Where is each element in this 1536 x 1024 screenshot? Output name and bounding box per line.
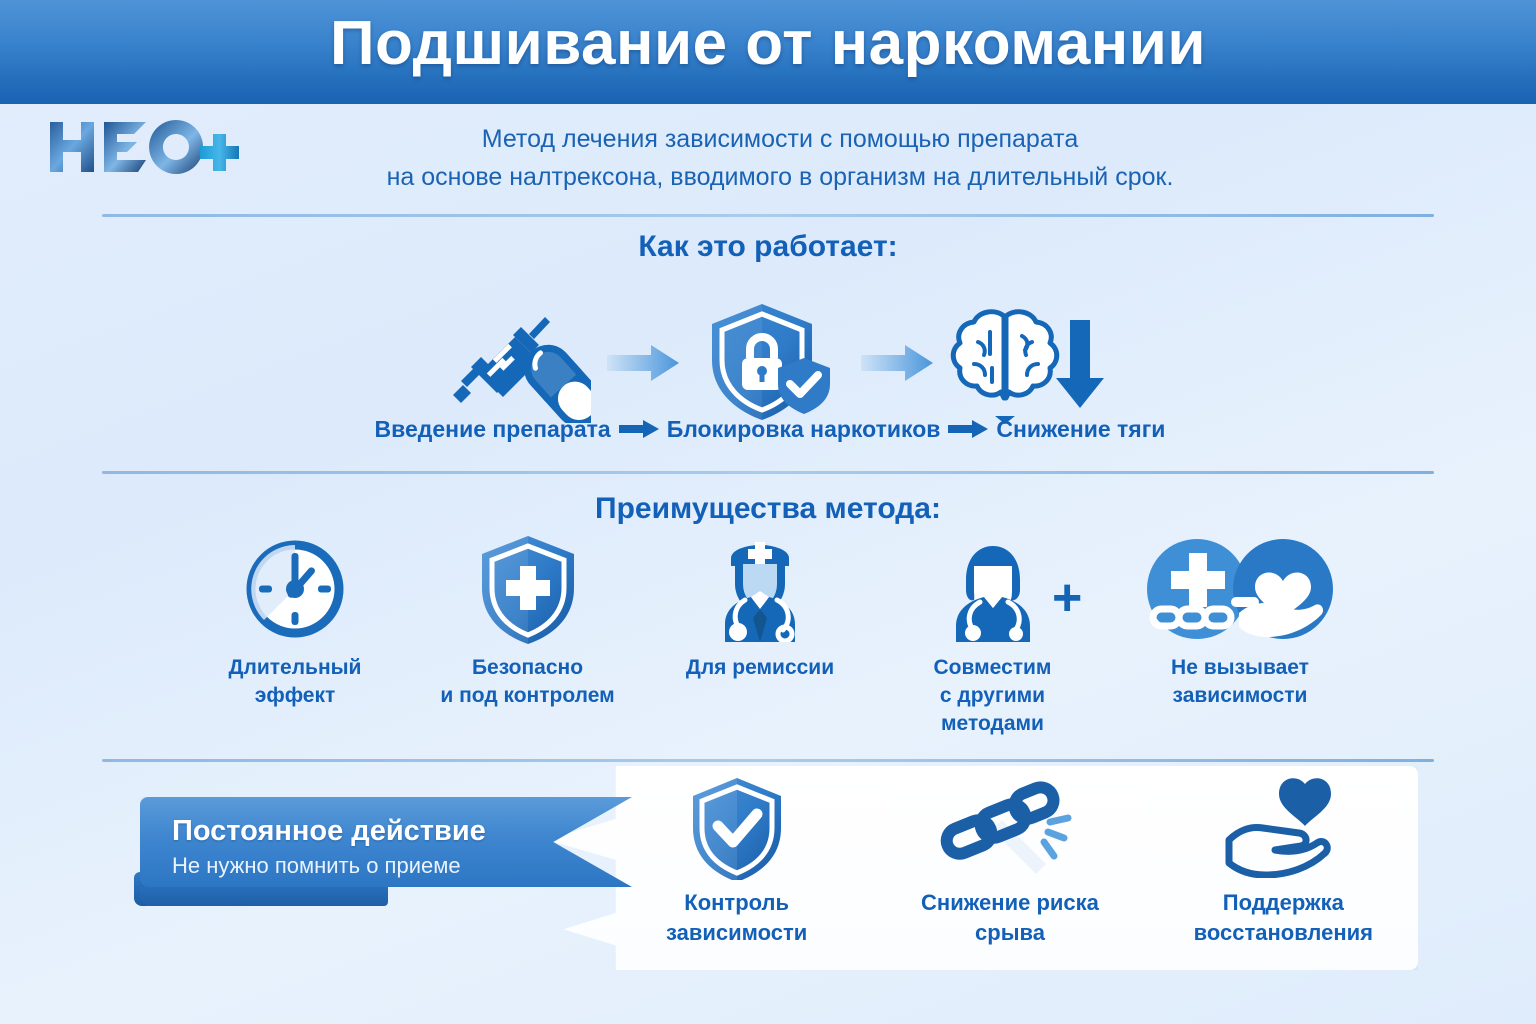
page-title: Подшивание от наркомании xyxy=(0,8,1536,79)
shield-cross-icon xyxy=(476,536,580,642)
doctor-icon xyxy=(705,536,815,642)
ribbon-text: Постоянное действие Не нужно помнить о п… xyxy=(172,812,572,882)
panel-item-support: Поддержка восстановления xyxy=(1158,776,1408,948)
bottom-panel-items: Контроль зависимости xyxy=(600,776,1420,966)
subtitle-line-2: на основе налтрексона, вводимого в орган… xyxy=(250,158,1310,196)
panel-label-3-line-1: Поддержка xyxy=(1223,890,1344,915)
arrow-right-icon-1 xyxy=(601,337,685,389)
how-it-works-title: Как это работает: xyxy=(0,230,1536,264)
neo-plus-logo xyxy=(46,116,242,178)
shield-check-icon xyxy=(685,776,789,880)
how-it-works-labels: Введение препарата Блокировка наркотиков… xyxy=(300,408,1240,450)
panel-item-control: Контроль зависимости xyxy=(612,776,862,948)
benefit-label-2-line-1: Безопасно xyxy=(472,656,583,679)
ribbon-subtitle: Не нужно помнить о приеме xyxy=(172,850,572,882)
benefit-label-1-line-1: Длительный эффект xyxy=(229,656,362,707)
benefits-title: Преимущества метода: xyxy=(0,492,1536,526)
panel-item-relapse: Снижение риска срыва xyxy=(885,776,1135,948)
benefit-label-5-line-2: зависимости xyxy=(1173,684,1308,707)
panel-label-3-line-2: восстановления xyxy=(1194,920,1373,945)
benefits-list: Длительный эффект Безопасно и под контро… xyxy=(190,536,1360,736)
arrow-right-icon-label-1 xyxy=(611,419,667,439)
infographic-poster: Подшивание от наркомании xyxy=(0,0,1536,1024)
nurse-icon xyxy=(938,536,1048,642)
benefit-label-4-line-2: с другими xyxy=(940,684,1045,707)
broken-chain-icon xyxy=(940,776,1080,880)
benefit-item-no-addiction: Не вызывает зависимости xyxy=(1120,536,1360,710)
ribbon-fold-bottom xyxy=(140,884,388,906)
panel-label-2-line-1: Снижение риска срыва xyxy=(921,890,1099,945)
benefit-item-safety: Безопасно и под контролем xyxy=(423,536,633,710)
benefit-item-remission: Для ремиссии xyxy=(655,536,865,682)
benefit-label-2-line-2: и под контролем xyxy=(440,684,614,707)
benefit-label-3-line-1: Для ремиссии xyxy=(686,656,834,679)
subtitle-text: Метод лечения зависимости с помощью преп… xyxy=(250,120,1310,196)
arrow-right-icon-2 xyxy=(855,337,939,389)
hand-heart-icon xyxy=(1221,776,1345,880)
divider-middle xyxy=(102,471,1434,474)
panel-label-1-line-1: Контроль зависимости xyxy=(666,890,807,945)
header-bar: Подшивание от наркомании xyxy=(0,0,1536,104)
benefit-label-5-line-1: Не вызывает xyxy=(1171,656,1309,679)
clock-icon xyxy=(243,536,347,642)
ribbon-title: Постоянное действие xyxy=(172,812,572,850)
divider-bottom xyxy=(102,759,1434,762)
step-label-1: Введение препарата xyxy=(375,416,611,443)
divider-top xyxy=(102,214,1434,217)
step-label-2: Блокировка наркотиков xyxy=(667,416,941,443)
subtitle-line-1: Метод лечения зависимости с помощью преп… xyxy=(482,125,1079,153)
arrow-right-icon-label-2 xyxy=(940,419,996,439)
step-label-3: Снижение тяги xyxy=(996,416,1165,443)
benefit-label-4-line-3: методами xyxy=(941,712,1044,735)
benefit-item-duration: Длительный эффект xyxy=(190,536,400,710)
chain-cross-heart-hand-icon xyxy=(1135,536,1345,642)
benefit-item-compatible: Совместим с другими методами xyxy=(888,536,1098,738)
plus-sign: + xyxy=(1052,572,1082,624)
benefit-label-4-line-1: Совместим xyxy=(934,656,1052,679)
